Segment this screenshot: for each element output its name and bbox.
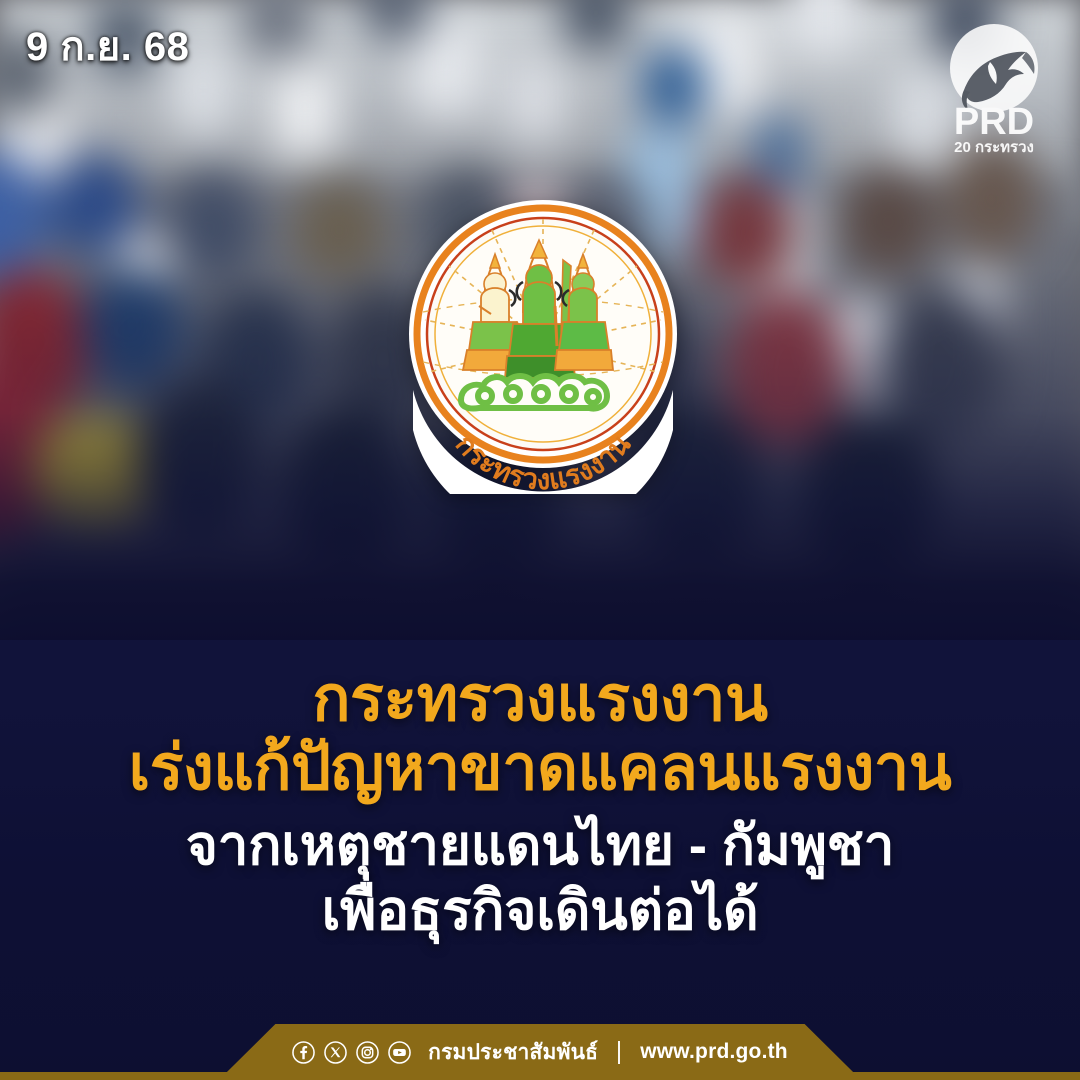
headline-line-4: เพื่อธุรกิจเดินต่อได้	[0, 883, 1080, 938]
footer-content-row: กรมประชาสัมพันธ์ www.prd.go.th	[0, 1035, 1080, 1069]
ministry-of-labour-emblem: กระทรวงแรงงาน	[405, 194, 681, 494]
date-badge: 9 ก.ย. 68	[26, 14, 189, 78]
headline-line-3: จากเหตุชายแดนไทย - กัมพูชา	[0, 818, 1080, 873]
headline-line-2: เร่งแก้ปัญหาขาดแคลนแรงงาน	[0, 737, 1080, 800]
x-twitter-icon[interactable]	[324, 1041, 347, 1064]
headline-block: กระทรวงแรงงาน เร่งแก้ปัญหาขาดแคลนแรงงาน …	[0, 668, 1080, 938]
poster-canvas: 9 ก.ย. 68 PRD 20 กระทรวง	[0, 0, 1080, 1080]
prd-logo[interactable]: PRD 20 กระทรวง	[930, 18, 1058, 158]
prd-subtitle-text: 20 กระทรวง	[954, 139, 1034, 156]
facebook-icon[interactable]	[292, 1041, 315, 1064]
footer-department-label: กรมประชาสัมพันธ์	[428, 1036, 598, 1069]
footer-separator	[618, 1041, 620, 1064]
headline-line-1: กระทรวงแรงงาน	[0, 668, 1080, 731]
footer-url-label[interactable]: www.prd.go.th	[640, 1040, 788, 1064]
instagram-icon[interactable]	[356, 1041, 379, 1064]
youtube-icon[interactable]	[388, 1041, 411, 1064]
prd-acronym-text: PRD	[954, 101, 1034, 143]
